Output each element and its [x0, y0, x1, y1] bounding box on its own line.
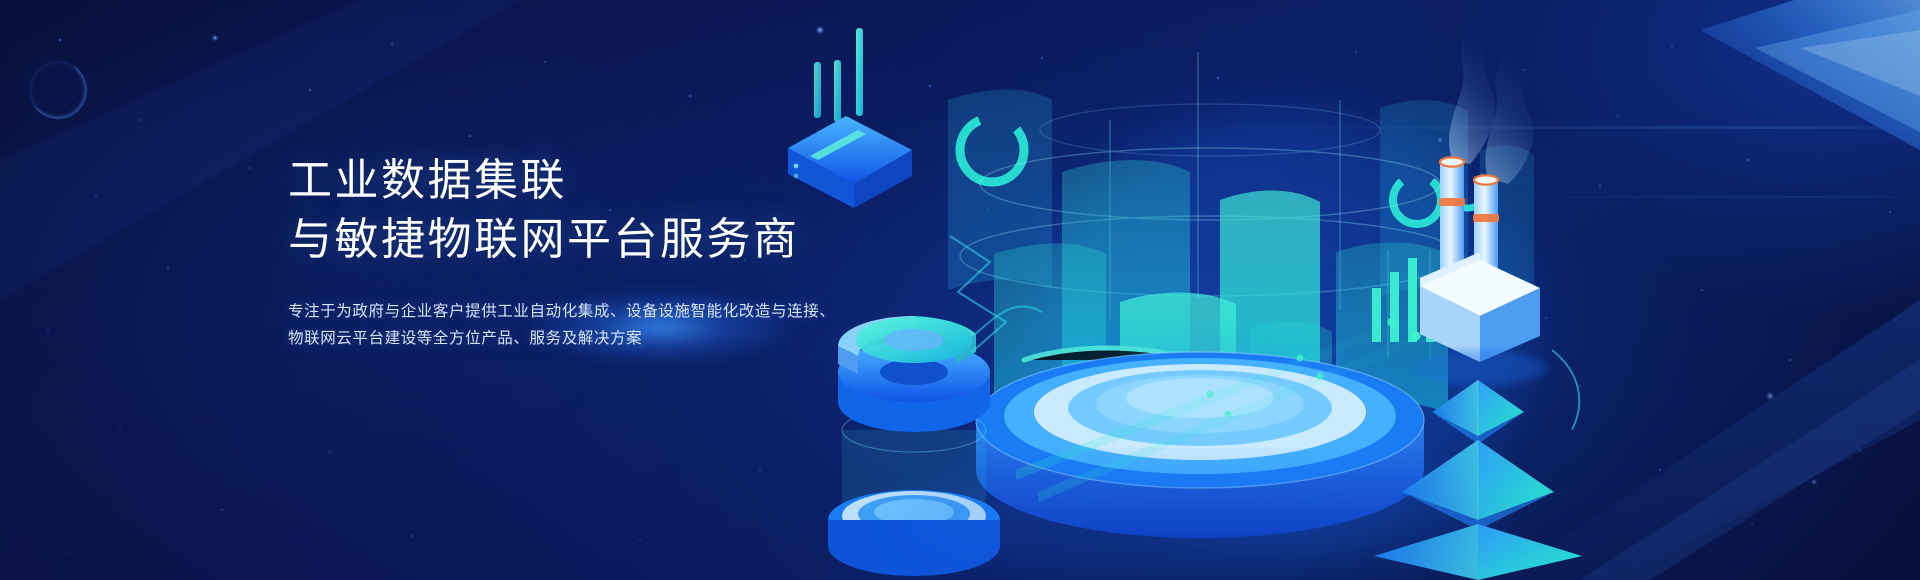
hero-banner: 工业数据集联 与敏捷物联网平台服务商 专注于为政府与企业客户提供工业自动化集成、…	[0, 0, 1920, 580]
subtitle-line-1: 专注于为政府与企业客户提供工业自动化集成、设备设施智能化改造与连接、	[288, 298, 1008, 326]
headline-line-1: 工业数据集联	[288, 152, 1008, 211]
hero-copy: 工业数据集联 与敏捷物联网平台服务商 专注于为政府与企业客户提供工业自动化集成、…	[288, 152, 1008, 353]
base-ambient-glow	[900, 460, 1500, 580]
subtitle-line-2: 物联网云平台建设等全方位产品、服务及解决方案	[288, 325, 1008, 353]
headline-line-2: 与敏捷物联网平台服务商	[288, 211, 1008, 270]
